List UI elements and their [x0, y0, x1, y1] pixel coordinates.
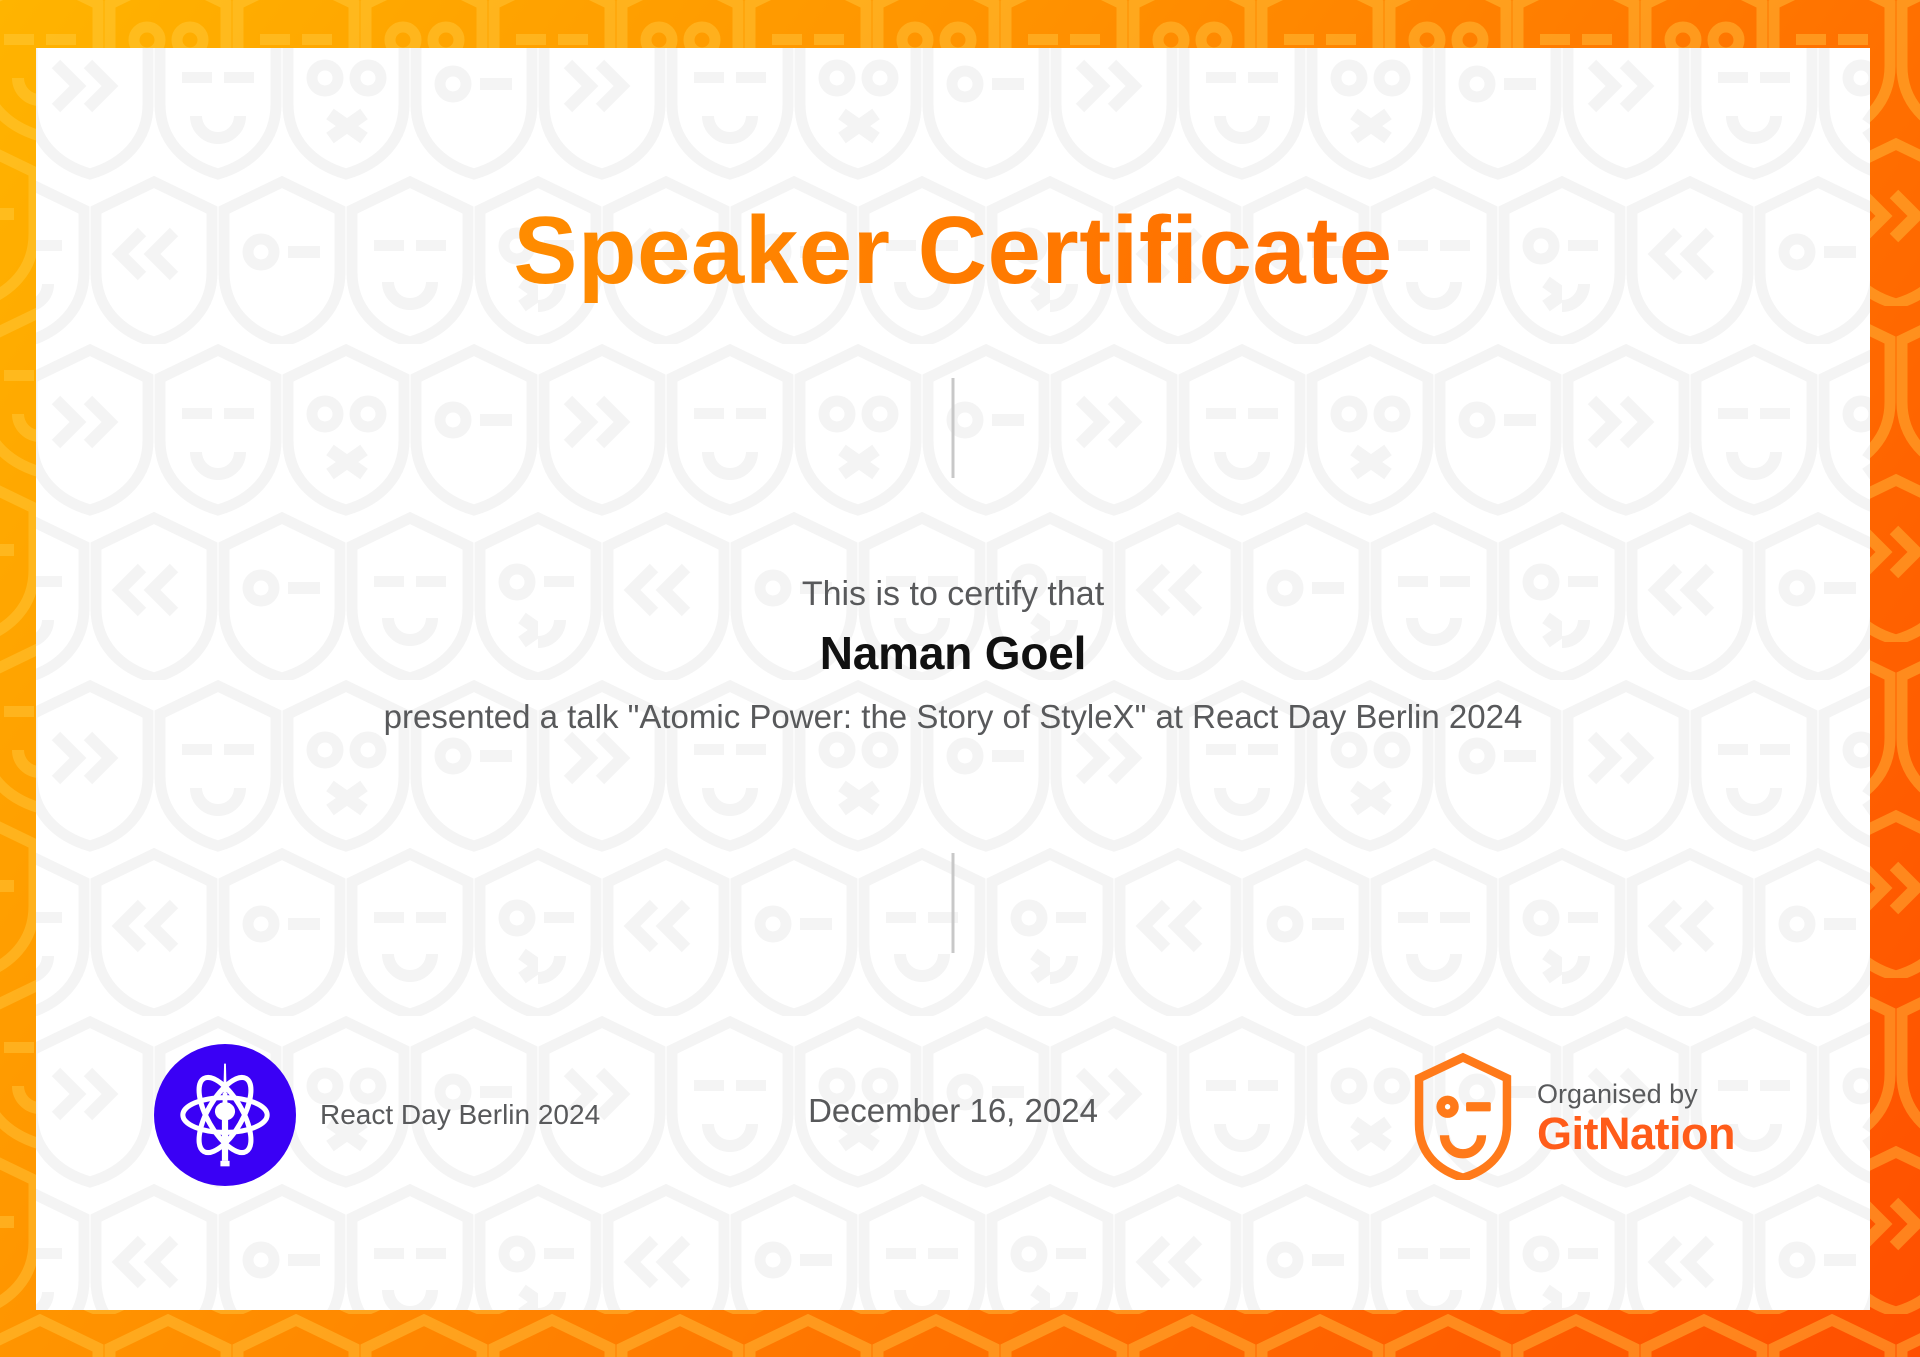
react-day-berlin-logo [154, 1044, 296, 1186]
certificate-footer: React Day Berlin 2024 December 16, 2024 [36, 1040, 1870, 1190]
page-title: Speaker Certificate [36, 198, 1870, 304]
organiser-name: GitNation [1537, 1110, 1735, 1157]
certify-line: This is to certify that [36, 575, 1870, 614]
organiser-block: Organised by GitNation [1411, 1052, 1735, 1185]
event-name: React Day Berlin 2024 [320, 1099, 600, 1131]
certificate: Speaker Certificate This is to certify t… [0, 0, 1920, 1357]
talk-description: presented a talk "Atomic Power: the Stor… [96, 698, 1810, 736]
certificate-date: December 16, 2024 [808, 1092, 1098, 1130]
divider-top [952, 378, 955, 478]
gitnation-shield-icon [1411, 1052, 1515, 1185]
certificate-card: Speaker Certificate This is to certify t… [36, 48, 1870, 1310]
event-block: React Day Berlin 2024 [154, 1040, 600, 1190]
divider-bottom [952, 853, 955, 953]
organised-by-label: Organised by [1537, 1080, 1735, 1108]
recipient-name: Naman Goel [36, 626, 1870, 680]
